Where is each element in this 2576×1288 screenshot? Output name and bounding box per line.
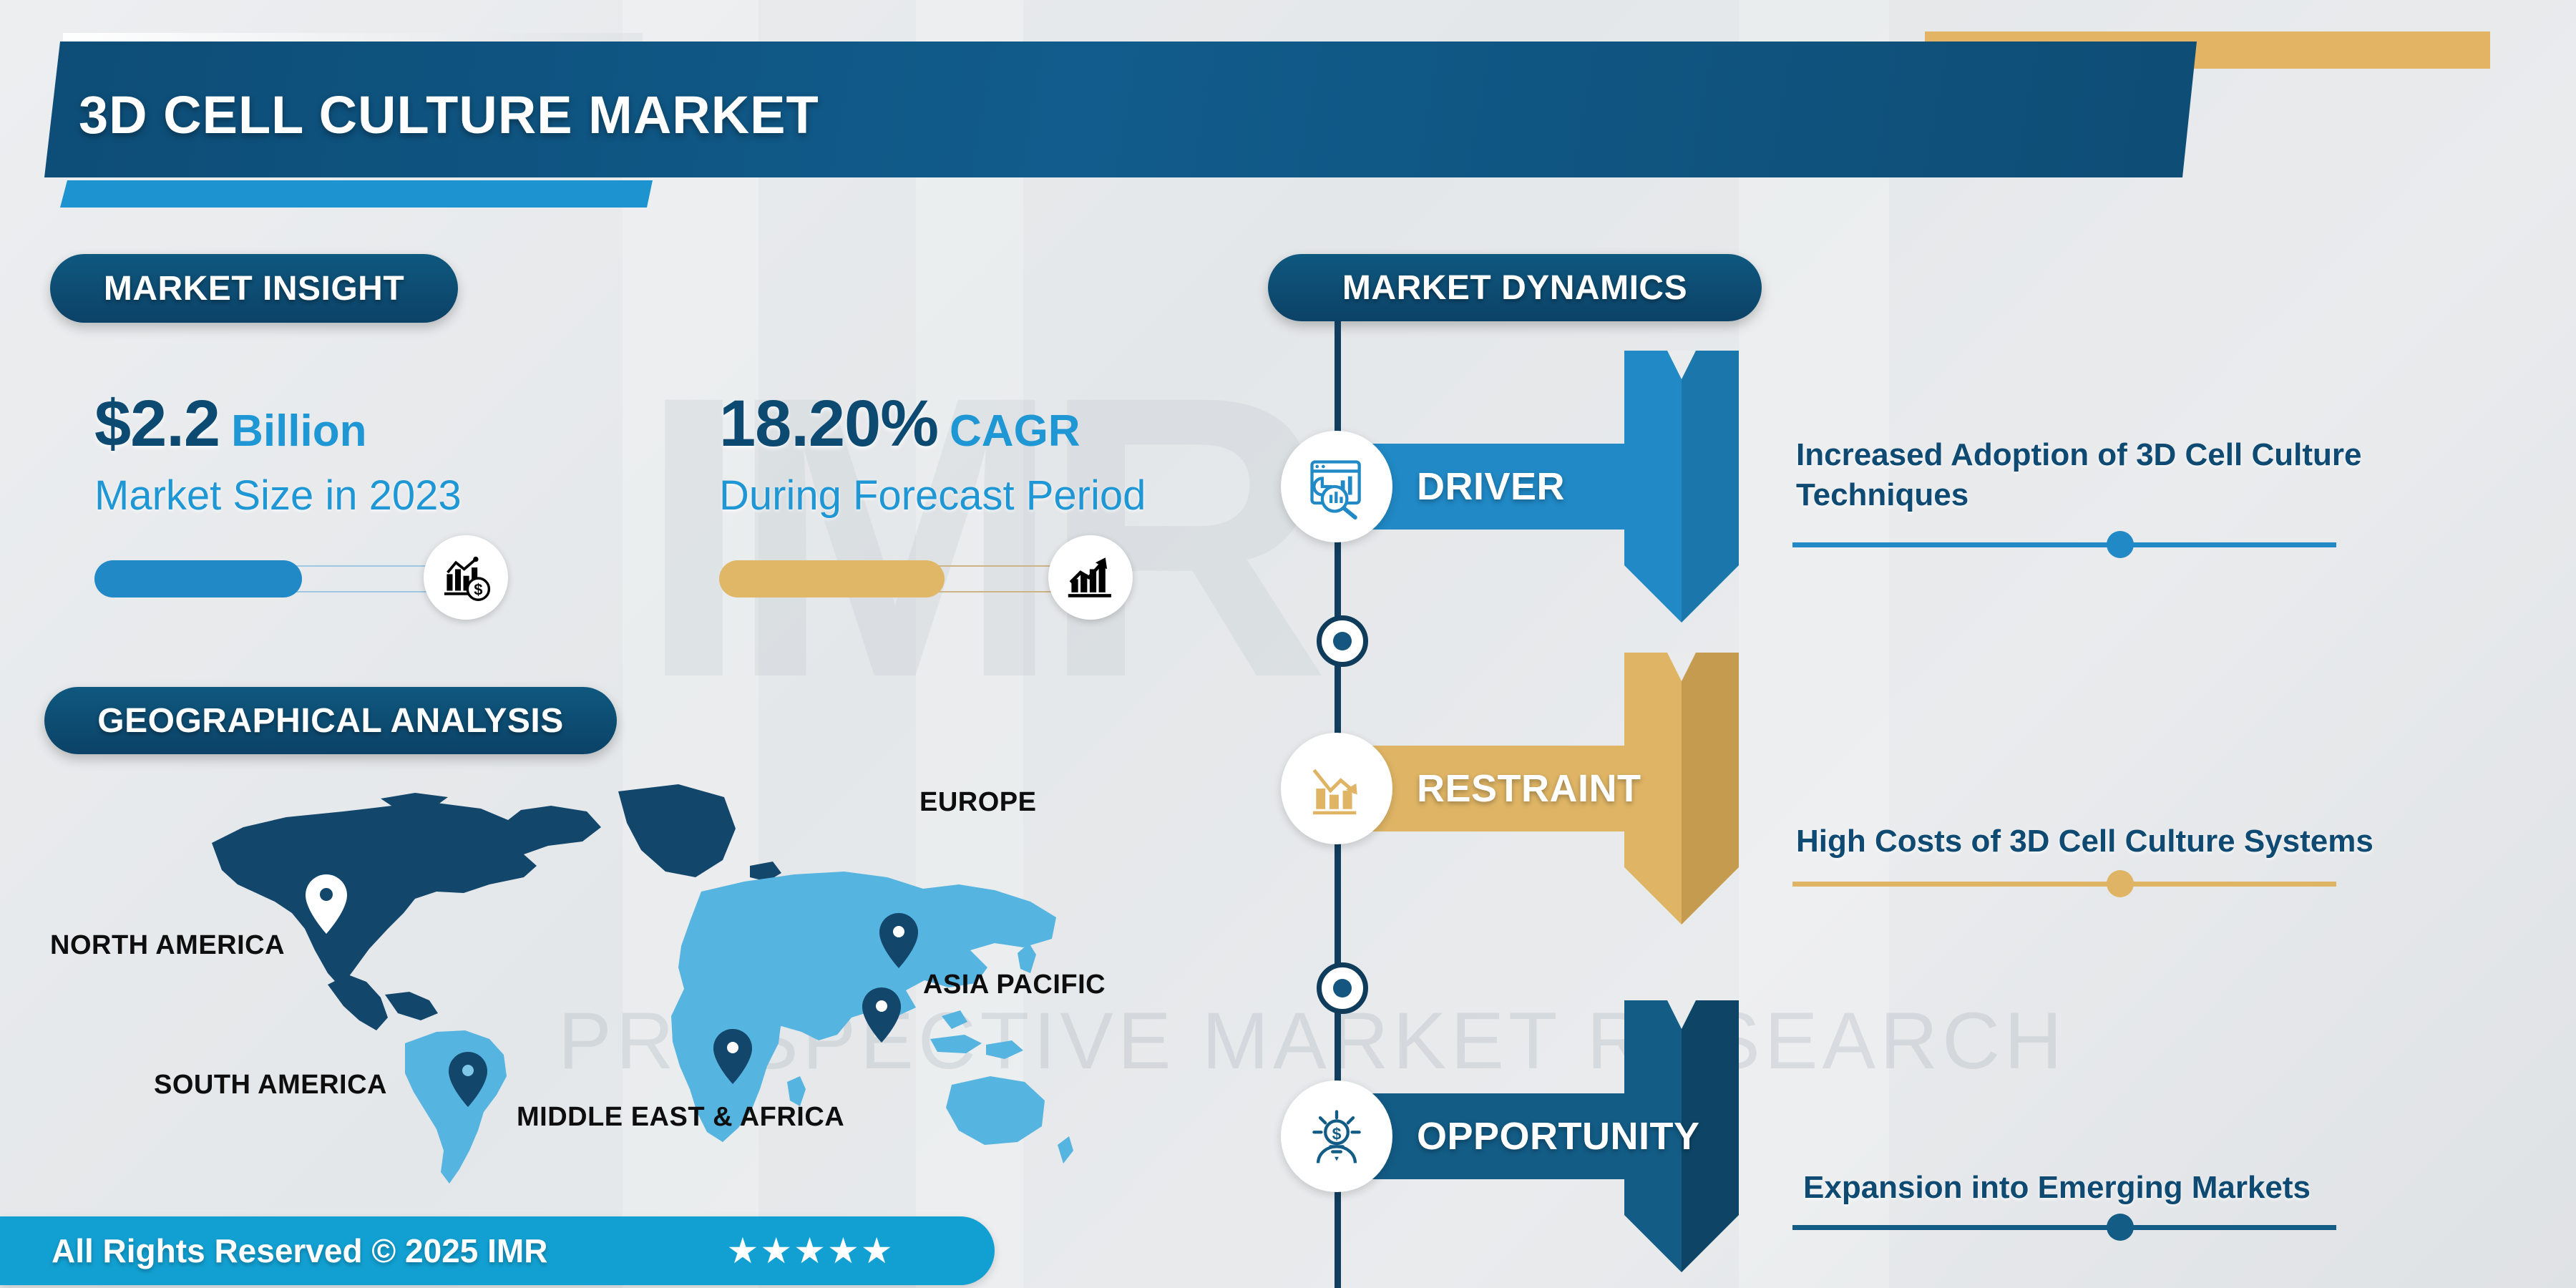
opportunity-description: Expansion into Emerging Markets xyxy=(1803,1168,2519,1208)
map-marker-asia-pacific xyxy=(862,987,901,1043)
driver-label: DRIVER xyxy=(1417,444,1565,530)
timeline-node-2 xyxy=(1317,962,1368,1014)
market-insight-heading-label: MARKET INSIGHT xyxy=(104,269,404,308)
restraint-arrow-tail xyxy=(1624,653,1739,924)
infographic-canvas: IMR PROSPECTIVE MARKET RESEARCH 3D CELL … xyxy=(0,0,2576,1288)
stat-cagr-value: 18.20% xyxy=(719,386,938,462)
dynamics-item-restraint: RESTRAINT xyxy=(1309,746,1810,831)
opportunity-underline-dot xyxy=(2107,1214,2134,1241)
stat-market-size-value: $2.2 xyxy=(94,386,220,462)
restraint-underline-dot xyxy=(2107,870,2134,897)
market-insight-heading: MARKET INSIGHT xyxy=(50,254,458,323)
dynamics-item-opportunity: $ OPPORTUNITY xyxy=(1309,1093,1810,1179)
restraint-label: RESTRAINT xyxy=(1417,746,1641,831)
driver-underline-dot xyxy=(2107,531,2134,558)
driver-arrow-tail xyxy=(1624,351,1739,623)
rating-stars: ★★★★★ xyxy=(726,1230,894,1272)
stat-market-size-caption: Market Size in 2023 xyxy=(94,472,462,519)
declining-bar-chart-icon xyxy=(1281,733,1392,844)
market-dynamics-heading-label: MARKET DYNAMICS xyxy=(1342,268,1687,308)
header-top-shadow xyxy=(63,33,643,42)
page-title: 3D CELL CULTURE MARKET xyxy=(79,84,819,145)
stat-market-size: $2.2 Billion Market Size in 2023 xyxy=(94,386,462,519)
growth-chart-arrow-icon xyxy=(1048,535,1133,620)
restraint-description: High Costs of 3D Cell Culture Systems xyxy=(1796,821,2512,862)
region-label-south-america: SOUTH AMERICA xyxy=(154,1070,387,1101)
stat-cagr-caption: During Forecast Period xyxy=(719,472,1146,519)
region-label-europe: EUROPE xyxy=(919,787,1036,818)
opportunity-label: OPPORTUNITY xyxy=(1417,1093,1700,1179)
stat-cagr-unit: CAGR xyxy=(950,406,1080,457)
geographical-analysis-heading: GEOGRAPHICAL ANALYSIS xyxy=(44,687,617,754)
opportunity-underline xyxy=(1792,1225,2336,1230)
region-label-asia-pacific: ASIA PACIFIC xyxy=(923,970,1106,1000)
report-analysis-icon xyxy=(1281,431,1392,542)
stat-market-size-unit: Billion xyxy=(231,406,366,457)
watermark-logo: IMR xyxy=(594,286,1352,787)
market-size-progress: $ xyxy=(94,565,509,592)
region-label-north-america: NORTH AMERICA xyxy=(50,930,285,961)
stat-cagr: 18.20% CAGR During Forecast Period xyxy=(719,386,1146,519)
bar-chart-dollar-icon: $ xyxy=(424,535,508,620)
driver-underline xyxy=(1792,542,2336,547)
region-label-middle-east-africa: MIDDLE EAST & AFRICA xyxy=(517,1102,844,1133)
header-accent-strip xyxy=(60,180,653,208)
lightbulb-dollar-icon: $ xyxy=(1281,1080,1392,1192)
market-dynamics-heading: MARKET DYNAMICS xyxy=(1268,254,1762,321)
geographical-analysis-heading-label: GEOGRAPHICAL ANALYSIS xyxy=(97,701,564,741)
restraint-underline xyxy=(1792,882,2336,887)
svg-text:$: $ xyxy=(474,580,482,598)
svg-text:$: $ xyxy=(1332,1124,1342,1143)
timeline-node-1 xyxy=(1317,615,1368,667)
footer-bar: All Rights Reserved © 2025 IMR ★★★★★ xyxy=(0,1216,995,1285)
driver-description: Increased Adoption of 3D Cell Culture Te… xyxy=(1796,435,2469,516)
copyright-text: All Rights Reserved © 2025 IMR xyxy=(52,1231,547,1270)
cagr-progress xyxy=(719,565,1134,592)
dynamics-item-driver: DRIVER xyxy=(1309,444,1810,530)
